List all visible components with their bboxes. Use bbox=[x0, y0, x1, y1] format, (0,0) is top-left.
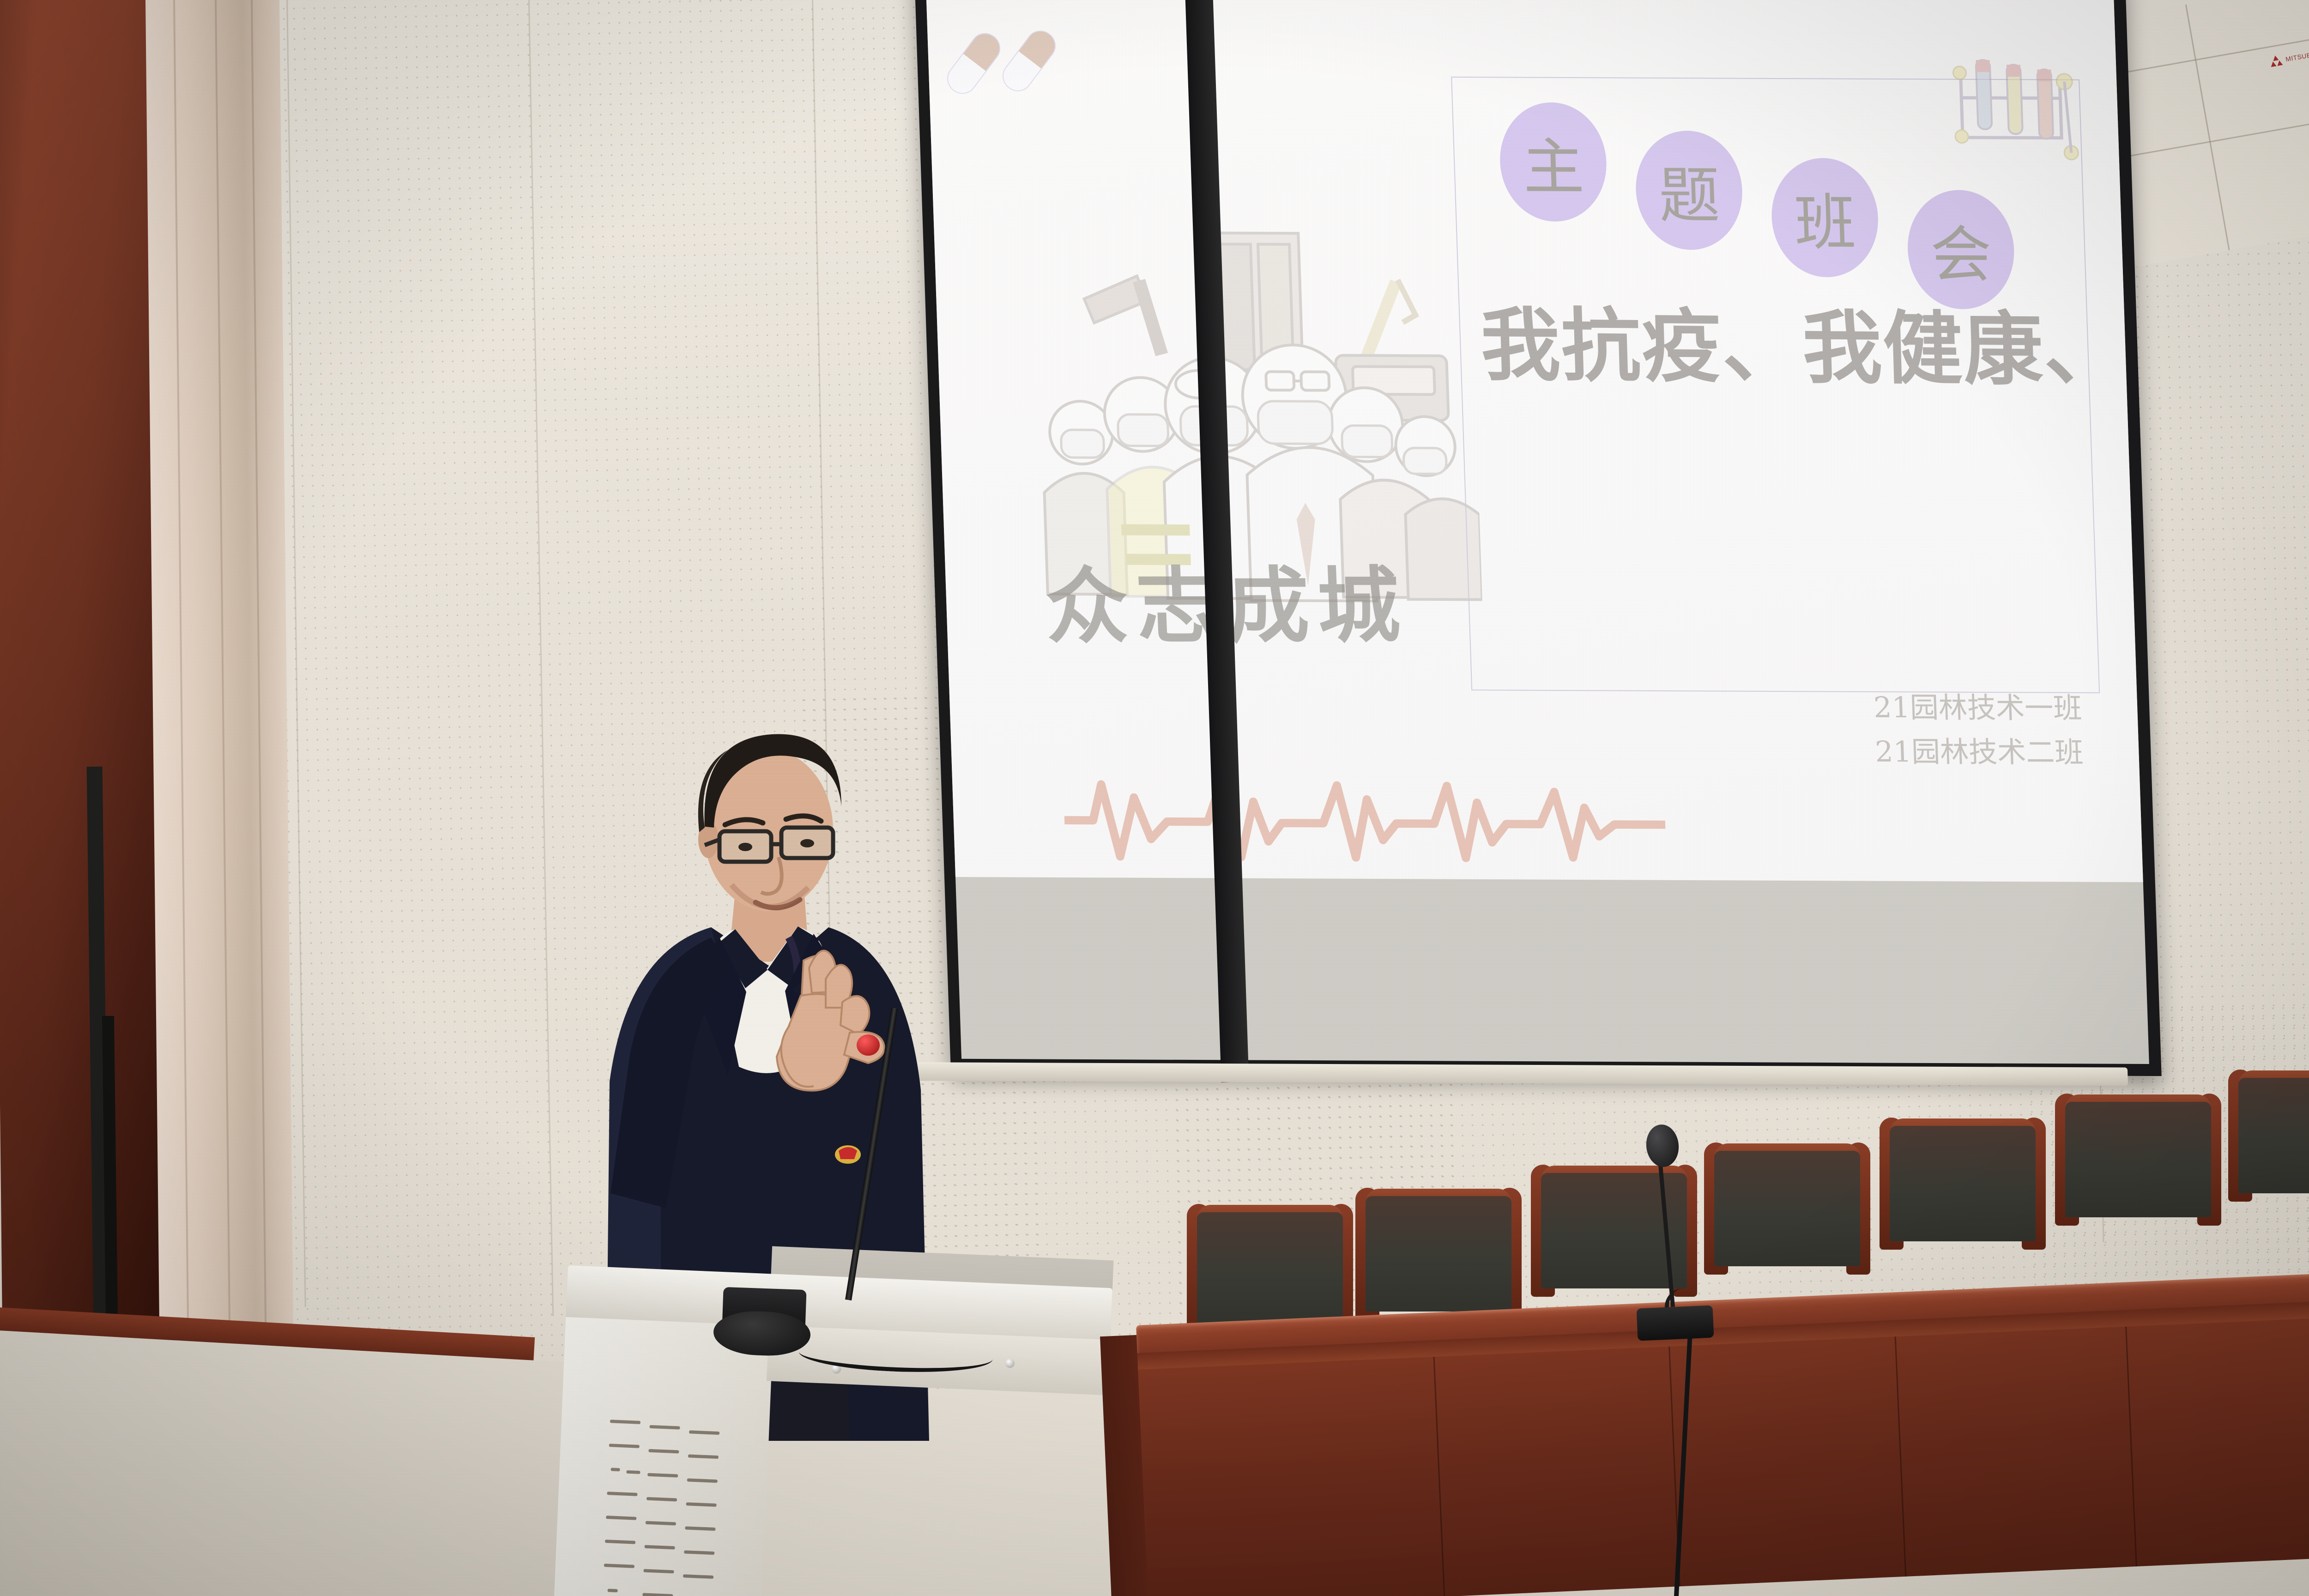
mitsubishi-three-diamond-icon bbox=[2269, 54, 2283, 67]
lapel-pin bbox=[835, 1145, 861, 1164]
test-tube-rack-icon bbox=[1952, 54, 2089, 169]
projection-screen: 众志成城 主 题 班 会 bbox=[914, 0, 2162, 1076]
capsule-pill-icon bbox=[955, 26, 1087, 105]
presentation-slide: 众志成城 主 题 班 会 bbox=[926, 0, 2143, 882]
theme-circle: 班 bbox=[1770, 158, 1880, 278]
table-microphone-base[interactable] bbox=[1637, 1305, 1714, 1341]
conference-table bbox=[1136, 1270, 2309, 1596]
speaking-podium bbox=[553, 1265, 1112, 1596]
wood-wall-panel bbox=[0, 0, 169, 1331]
chair bbox=[1355, 1196, 1522, 1321]
slide-headline: 我抗疫、我健康、我奉献 bbox=[1480, 304, 2138, 393]
chair bbox=[1880, 1126, 2046, 1251]
window-curtain bbox=[145, 0, 293, 1326]
theme-circle: 主 bbox=[1498, 102, 1608, 222]
theme-circle: 题 bbox=[1634, 131, 1744, 250]
heartbeat-line-icon bbox=[1063, 765, 1667, 874]
class-list: 21园林技术一班 21园林技术二班 bbox=[1758, 685, 2084, 775]
photo-scene: MITSUBISHI bbox=[0, 0, 2309, 1596]
podium-vent-grille bbox=[602, 1420, 728, 1596]
class-name: 21园林技术一班 bbox=[1758, 685, 2083, 731]
chair bbox=[1704, 1151, 1870, 1276]
podium-microphone-indicator bbox=[857, 1034, 880, 1056]
class-name: 21园林技术二班 bbox=[1759, 729, 2084, 775]
calligraphy-text: 众志成城 bbox=[1044, 564, 1474, 671]
chair bbox=[2055, 1102, 2221, 1227]
lower-wall-panel bbox=[0, 1330, 627, 1596]
chair bbox=[2228, 1078, 2309, 1203]
